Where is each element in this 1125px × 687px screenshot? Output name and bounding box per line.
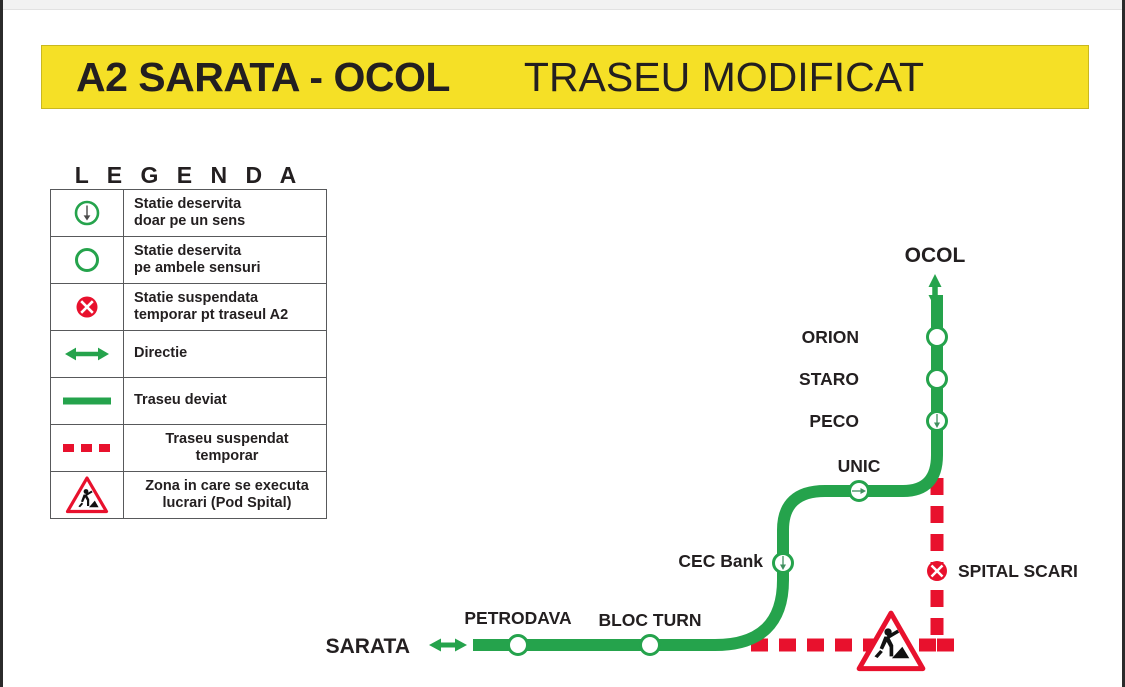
green-open-circle-icon — [928, 328, 947, 347]
station-label-petrodava: PETRODAVA — [464, 608, 572, 628]
station-label-spital-scari: SPITAL SCARI — [958, 561, 1078, 581]
route-map: OCOL SARATA ORION STARO PECO UNIC — [3, 0, 1125, 687]
station-label-unic: UNIC — [838, 456, 881, 476]
station-peco[interactable]: PECO — [809, 411, 946, 431]
station-label-staro: STARO — [799, 369, 859, 389]
station-cec-bank[interactable]: CEC Bank — [678, 551, 792, 573]
station-label-orion: ORION — [802, 327, 859, 347]
green-open-circle-icon — [509, 636, 528, 655]
sarata-direction-arrow — [429, 639, 467, 652]
station-staro[interactable]: STARO — [799, 369, 946, 389]
route-diagram-page: A2 SARATA - OCOL TRASEU MODIFICAT L E G … — [0, 0, 1125, 687]
terminal-label-sarata: SARATA — [326, 635, 410, 658]
station-label-cec-bank: CEC Bank — [678, 551, 763, 571]
station-spital-scari[interactable]: SPITAL SCARI — [927, 561, 1078, 581]
station-label-peco: PECO — [809, 411, 859, 431]
green-open-circle-icon — [641, 636, 660, 655]
green-open-circle-icon — [928, 370, 947, 389]
station-label-bloc-turn: BLOC TURN — [598, 610, 701, 630]
station-orion[interactable]: ORION — [802, 327, 947, 347]
terminal-label-ocol: OCOL — [905, 244, 966, 267]
